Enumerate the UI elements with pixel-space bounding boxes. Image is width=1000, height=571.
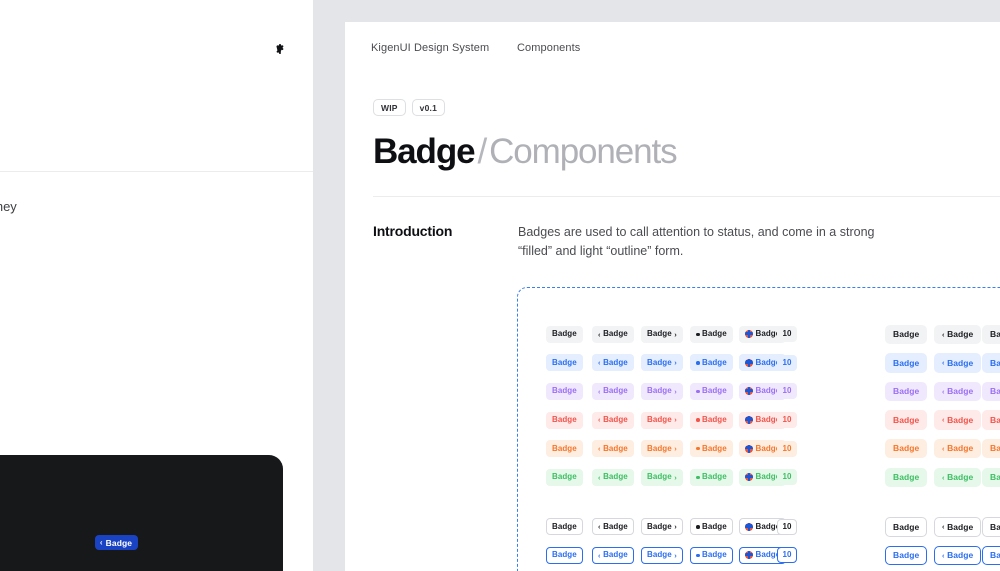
grid-cell: Badge›: [641, 354, 690, 371]
badge-count: 10: [783, 473, 792, 481]
chevron-left-icon: ‹: [942, 445, 945, 453]
chevron-left-icon: ‹: [598, 523, 601, 531]
preview-badge[interactable]: ‹ Badge: [95, 535, 138, 550]
documentation-panel: KigenUI Design System Components WIP v0.…: [345, 22, 1000, 571]
grid-cell: 10: [777, 326, 839, 342]
chevron-left-icon: ‹: [598, 552, 601, 560]
badge-label: Badge: [647, 416, 672, 424]
badge-label: Badge: [647, 551, 672, 559]
chevron-left-icon: ‹: [942, 388, 945, 396]
badge-purple-dot[interactable]: Badge: [690, 383, 733, 400]
grid-cell: Badge: [546, 547, 592, 564]
badge-label: Badge: [647, 445, 672, 453]
badge-row-red: Badge‹BadgeBadge›BadgeBadge10Badge‹Badge…: [546, 406, 1000, 435]
grid-cell: 10: [777, 412, 839, 428]
badge-label: Badge: [702, 387, 727, 395]
avatar: [745, 416, 753, 424]
grid-cell: Badge: [739, 354, 777, 371]
preview-badge-label: Badge: [106, 538, 132, 548]
badge-label: Badge: [552, 387, 577, 395]
badge-red-text[interactable]: Badge: [885, 410, 927, 430]
badge-purple-text[interactable]: Badge: [546, 383, 583, 400]
grid-cell: 10: [777, 519, 839, 535]
badge-purple-chevron-left[interactable]: ‹Badge: [934, 382, 981, 402]
badge-label: Badge: [990, 416, 1000, 425]
badge-label: Badge: [990, 473, 1000, 482]
badge-orange-text[interactable]: Badge: [885, 439, 927, 459]
badge-row-gray: Badge‹BadgeBadge›BadgeBadge10Badge‹Badge…: [546, 513, 1000, 542]
grid-cell: Badge: [546, 469, 592, 486]
badge-label: Badge: [990, 387, 1000, 396]
badge-count: 10: [783, 445, 792, 453]
badge-blue-count[interactable]: 10: [777, 547, 797, 563]
badge-gray-text[interactable]: Badge: [885, 325, 927, 345]
left-panel-toolbar: [0, 0, 313, 172]
grid-cell: ‹Badge: [934, 325, 982, 345]
grid-cell: ‹Badge: [592, 326, 641, 343]
chevron-left-icon: ‹: [598, 445, 601, 453]
badge-row-blue: Badge‹BadgeBadge›BadgeBadge10Badge‹Badge…: [546, 541, 1000, 570]
grid-cell: Badge›: [982, 546, 1000, 566]
breadcrumb: Components: [489, 132, 676, 171]
badge-blue-chevron-right[interactable]: Badge›: [982, 546, 1000, 566]
badge-label: Badge: [702, 551, 727, 559]
grid-cell: Badge›: [982, 468, 1000, 488]
grid-cell: Badge: [690, 469, 739, 486]
badge-gray-chevron-right[interactable]: Badge›: [982, 517, 1000, 537]
badge-label: Badge: [552, 523, 577, 531]
badge-gray-chevron-right[interactable]: Badge›: [982, 325, 1000, 345]
badge-gray-chevron-left[interactable]: ‹Badge: [934, 517, 981, 537]
badge-label: Badge: [947, 416, 973, 425]
grid-cell: ‹Badge: [934, 468, 982, 488]
badge-purple-count[interactable]: 10: [777, 383, 797, 399]
badge-label: Badge: [947, 444, 973, 453]
badge-label: Badge: [990, 444, 1000, 453]
badge-label: Badge: [947, 473, 973, 482]
badge-label: Badge: [603, 359, 628, 367]
badge-green-dot[interactable]: Badge: [690, 469, 733, 486]
badge-label: Badge: [552, 359, 577, 367]
badge-label: Badge: [647, 330, 672, 338]
top-nav: KigenUI Design System Components: [345, 22, 1000, 77]
badge-blue-chevron-right[interactable]: Badge›: [641, 547, 683, 564]
badge-blue-text[interactable]: Badge: [885, 353, 927, 373]
badge-label: Badge: [893, 330, 919, 339]
badge-label: Badge: [647, 387, 672, 395]
badge-count: 10: [783, 359, 792, 367]
grid-cell: Badge›: [982, 353, 1000, 373]
badge-label: Badge: [603, 551, 628, 559]
badge-blue-dot[interactable]: Badge: [690, 547, 733, 564]
chevron-right-icon: ›: [674, 445, 677, 453]
avatar: [745, 330, 753, 338]
section-label-introduction: Introduction: [373, 223, 518, 261]
badge-gray-dot[interactable]: Badge: [690, 518, 733, 535]
badge-label: Badge: [947, 359, 973, 368]
chevron-left-icon: ‹: [598, 416, 601, 424]
badge-green-text[interactable]: Badge: [885, 468, 927, 488]
grid-cell: Badge: [739, 469, 777, 486]
badge-label: Badge: [702, 523, 727, 531]
grid-cell: Badge: [885, 517, 934, 537]
badge-purple-chevron-right[interactable]: Badge›: [641, 383, 683, 400]
badge-purple-chevron-right[interactable]: Badge›: [982, 382, 1000, 402]
badge-label: Badge: [947, 387, 973, 396]
grid-cell: Badge›: [982, 410, 1000, 430]
badge-label: Badge: [893, 387, 919, 396]
clipped-line: low.: [0, 235, 313, 254]
grid-cell: Badge: [885, 325, 934, 345]
grid-cell: ‹Badge: [934, 410, 982, 430]
status-dot-icon: [696, 554, 700, 558]
page-header: WIP v0.1 Badge/Components: [345, 99, 1000, 197]
status-dot-icon: [696, 390, 700, 394]
grid-cell: Badge: [546, 412, 592, 429]
badge-count: 10: [783, 523, 792, 531]
badge-green-chevron-left[interactable]: ‹Badge: [592, 469, 634, 486]
badge-blue-text[interactable]: Badge: [546, 547, 583, 564]
badge-row-blue: Badge‹BadgeBadge›BadgeBadge10Badge‹Badge…: [546, 349, 1000, 378]
examples-canvas-wrap: Badge‹BadgeBadge›BadgeBadge10Badge‹Badge…: [345, 287, 1000, 571]
introduction-copy: Badges are used to call attention to sta…: [518, 223, 886, 261]
chevron-left-icon: ‹: [942, 552, 945, 560]
grid-cell: Badge: [885, 468, 934, 488]
badge-label: Badge: [893, 551, 919, 560]
badge-label: Badge: [552, 551, 577, 559]
status-dot-icon: [696, 418, 700, 422]
grid-cell: Badge: [885, 410, 934, 430]
avatar: [745, 551, 753, 559]
grid-cell: ‹Badge: [934, 439, 982, 459]
nav-brand[interactable]: KigenUI Design System: [371, 42, 489, 54]
grid-cell: Badge›: [641, 383, 690, 400]
badge-count: 10: [783, 551, 792, 559]
badge-row-orange: Badge‹BadgeBadge›BadgeBadge10Badge‹Badge…: [546, 434, 1000, 463]
grid-cell: ‹Badge: [592, 412, 641, 429]
grid-cell: Badge: [885, 353, 934, 373]
badge-label: Badge: [893, 444, 919, 453]
grid-cell: 10: [777, 383, 839, 399]
chevron-left-icon: ‹: [942, 359, 945, 367]
badge-blue-text[interactable]: Badge: [885, 546, 927, 566]
badge-green-text[interactable]: Badge: [546, 469, 583, 486]
badge-showcase-canvas: Badge‹BadgeBadge›BadgeBadge10Badge‹Badge…: [517, 287, 1000, 571]
badge-label: Badge: [893, 473, 919, 482]
badge-label: Badge: [552, 416, 577, 424]
grid-cell: Badge: [739, 440, 777, 457]
chevron-left-icon: ‹: [100, 538, 103, 547]
badge-orange-text[interactable]: Badge: [546, 440, 583, 457]
page-title-main: Badge: [373, 132, 474, 171]
badge-gray-text[interactable]: Badge: [885, 517, 927, 537]
badge-label: Badge: [702, 473, 727, 481]
chevron-right-icon: ›: [674, 552, 677, 560]
badge-label: Badge: [647, 473, 672, 481]
badge-orange-chevron-left[interactable]: ‹Badge: [592, 440, 634, 457]
badge-label: Badge: [702, 416, 727, 424]
grid-cell: Badge: [690, 412, 739, 429]
clipped-line: ntion to: [0, 217, 313, 236]
badge-gray-chevron-left[interactable]: ‹Badge: [934, 325, 981, 345]
badge-orange-chevron-right[interactable]: Badge›: [641, 440, 683, 457]
chevron-left-icon: ‹: [942, 523, 945, 531]
grid-cell: Badge›: [982, 382, 1000, 402]
badge-gray-count[interactable]: 10: [777, 519, 797, 535]
badge-label: Badge: [647, 523, 672, 531]
badge-purple-chevron-left[interactable]: ‹Badge: [592, 383, 634, 400]
grid-cell: Badge›: [641, 518, 690, 535]
chevron-left-icon: ‹: [942, 416, 945, 424]
badge-label: Badge: [990, 551, 1000, 560]
badge-blue-dot[interactable]: Badge: [690, 354, 733, 371]
badge-section-outline: Badge‹BadgeBadge›BadgeBadge10Badge‹Badge…: [518, 513, 1000, 571]
chevron-left-icon: ‹: [598, 388, 601, 396]
badge-row-green: Badge‹BadgeBadge›BadgeBadge10Badge‹Badge…: [546, 463, 1000, 492]
chevron-left-icon: ‹: [942, 474, 945, 482]
header-divider: [373, 196, 1000, 197]
badge-label: Badge: [552, 473, 577, 481]
badge-gray-count[interactable]: 10: [777, 326, 797, 342]
grid-cell: Badge: [739, 518, 777, 535]
grid-cell: ‹Badge: [934, 517, 982, 537]
badge-label: Badge: [947, 523, 973, 532]
grid-cell: Badge: [739, 412, 777, 429]
grid-cell: Badge: [690, 547, 739, 564]
badge-gray-chevron-right[interactable]: Badge›: [641, 518, 683, 535]
status-dot-icon: [696, 333, 700, 337]
badge-blue-text[interactable]: Badge: [546, 354, 583, 371]
badge-blue-chevron-left[interactable]: ‹Badge: [592, 547, 634, 564]
status-dot-icon: [696, 361, 700, 365]
badge-label: Badge: [893, 416, 919, 425]
badge-green-chevron-left[interactable]: ‹Badge: [934, 468, 981, 488]
grid-cell: ‹Badge: [592, 383, 641, 400]
badge-label: Badge: [603, 416, 628, 424]
badge-blue-chevron-left[interactable]: ‹Badge: [934, 546, 981, 566]
avatar: [745, 523, 753, 531]
grid-cell: Badge›: [641, 326, 690, 343]
badge-label: Badge: [893, 359, 919, 368]
grid-cell: 10: [777, 441, 839, 457]
badge-gray-dot[interactable]: Badge: [690, 326, 733, 343]
grid-cell: Badge: [690, 354, 739, 371]
badge-blue-chevron-right[interactable]: Badge›: [641, 354, 683, 371]
badge-orange-dot[interactable]: Badge: [690, 440, 733, 457]
badge-red-dot[interactable]: Badge: [690, 412, 733, 429]
grid-cell: ‹Badge: [592, 469, 641, 486]
status-badge-wip[interactable]: WIP: [373, 99, 406, 116]
grid-cell: ‹Badge: [592, 354, 641, 371]
badge-label: Badge: [702, 330, 727, 338]
grid-cell: Badge: [690, 326, 739, 343]
grid-cell: Badge: [739, 547, 777, 564]
grid-cell: Badge: [546, 383, 592, 400]
grid-cell: ‹Badge: [592, 547, 641, 564]
avatar: [745, 387, 753, 395]
status-dot-icon: [696, 447, 700, 451]
badge-gray-chevron-left[interactable]: ‹Badge: [592, 326, 634, 343]
avatar: [745, 473, 753, 481]
badge-red-count[interactable]: 10: [777, 412, 797, 428]
badge-count: 10: [783, 416, 792, 424]
badge-label: Badge: [702, 445, 727, 453]
badge-red-chevron-right[interactable]: Badge›: [641, 412, 683, 429]
chevron-left-icon: ‹: [598, 331, 601, 339]
badge-count: 10: [783, 387, 792, 395]
badge-label: Badge: [702, 359, 727, 367]
chevron-left-icon: ‹: [942, 331, 945, 339]
badge-red-chevron-left[interactable]: ‹Badge: [592, 412, 634, 429]
badge-green-count[interactable]: 10: [777, 469, 797, 485]
badge-label: Badge: [603, 445, 628, 453]
badge-gray-chevron-right[interactable]: Badge›: [641, 326, 683, 343]
badge-label: Badge: [647, 359, 672, 367]
chevron-right-icon: ›: [674, 416, 677, 424]
chevron-left-icon: ‹: [598, 359, 601, 367]
grid-cell: 10: [777, 355, 839, 371]
badge-blue-chevron-right[interactable]: Badge›: [982, 353, 1000, 373]
grid-cell: Badge: [690, 383, 739, 400]
avatar: [745, 445, 753, 453]
badge-red-chevron-right[interactable]: Badge›: [982, 410, 1000, 430]
introduction-section: Introduction Badges are used to call att…: [345, 197, 1000, 261]
grid-cell: Badge: [885, 439, 934, 459]
badge-red-text[interactable]: Badge: [546, 412, 583, 429]
grid-cell: Badge›: [641, 469, 690, 486]
avatar: [745, 359, 753, 367]
badge-gray-text[interactable]: Badge: [546, 326, 583, 343]
tag-row: WIP v0.1: [373, 99, 1000, 116]
chevron-right-icon: ›: [674, 359, 677, 367]
screen: page. They ntion to low. ‹ Badge s, and …: [0, 0, 1000, 571]
badge-green-chevron-right[interactable]: Badge›: [641, 469, 683, 486]
grid-cell: Badge›: [982, 517, 1000, 537]
chevron-right-icon: ›: [674, 523, 677, 531]
badge-label: Badge: [990, 330, 1000, 339]
left-panel: page. They ntion to low. ‹ Badge s, and …: [0, 0, 313, 571]
badge-orange-chevron-right[interactable]: Badge›: [982, 439, 1000, 459]
grid-cell: Badge: [546, 326, 592, 343]
grid-cell: Badge: [885, 546, 934, 566]
grid-cell: Badge›: [641, 440, 690, 457]
grid-cell: ‹Badge: [934, 546, 982, 566]
grid-cell: 10: [777, 547, 839, 563]
title-separator: /: [474, 132, 489, 171]
nav-link-components[interactable]: Components: [517, 42, 580, 54]
badge-label: Badge: [893, 523, 919, 532]
badge-purple-text[interactable]: Badge: [885, 382, 927, 402]
grid-cell: Badge: [546, 354, 592, 371]
badge-label: Badge: [603, 523, 628, 531]
chevron-left-icon: ‹: [598, 474, 601, 482]
badge-section-filled: Badge‹BadgeBadge›BadgeBadge10Badge‹Badge…: [518, 320, 1000, 492]
chevron-right-icon: ›: [674, 388, 677, 396]
grid-cell: Badge: [885, 382, 934, 402]
chevron-right-icon: ›: [674, 474, 677, 482]
grid-cell: ‹Badge: [592, 440, 641, 457]
badge-label: Badge: [552, 330, 577, 338]
badge-blue-chevron-left[interactable]: ‹Badge: [592, 354, 634, 371]
badge-green-chevron-right[interactable]: Badge›: [982, 468, 1000, 488]
badge-label: Badge: [990, 359, 1000, 368]
dark-preview-card: ‹ Badge: [0, 455, 283, 571]
grid-cell: Badge: [739, 326, 777, 343]
badge-orange-chevron-left[interactable]: ‹Badge: [934, 439, 981, 459]
badge-label: Badge: [947, 330, 973, 339]
status-dot-icon: [696, 476, 700, 480]
grid-cell: Badge›: [982, 325, 1000, 345]
badge-label: Badge: [552, 445, 577, 453]
grid-cell: Badge: [739, 383, 777, 400]
status-badge-version[interactable]: v0.1: [412, 99, 445, 116]
grid-cell: Badge: [546, 518, 592, 535]
badge-blue-count[interactable]: 10: [777, 355, 797, 371]
clipped-line: page. They: [0, 198, 313, 217]
grid-cell: Badge›: [641, 412, 690, 429]
grid-cell: Badge: [690, 518, 739, 535]
grid-cell: ‹Badge: [934, 353, 982, 373]
badge-label: Badge: [603, 387, 628, 395]
page-title: Badge/Components: [373, 132, 1000, 172]
gear-icon[interactable]: [272, 41, 288, 57]
grid-cell: ‹Badge: [592, 518, 641, 535]
badge-row-gray: Badge‹BadgeBadge›BadgeBadge10Badge‹Badge…: [546, 320, 1000, 349]
badge-gray-chevron-left[interactable]: ‹Badge: [592, 518, 634, 535]
grid-cell: ‹Badge: [934, 382, 982, 402]
badge-red-chevron-left[interactable]: ‹Badge: [934, 410, 981, 430]
badge-count: 10: [783, 330, 792, 338]
grid-cell: Badge›: [641, 547, 690, 564]
badge-label: Badge: [603, 473, 628, 481]
badge-orange-count[interactable]: 10: [777, 441, 797, 457]
grid-cell: Badge: [690, 440, 739, 457]
badge-row-purple: Badge‹BadgeBadge›BadgeBadge10Badge‹Badge…: [546, 377, 1000, 406]
left-clipped-paragraph-top: page. They ntion to low.: [0, 198, 313, 254]
status-dot-icon: [696, 525, 700, 529]
grid-cell: Badge›: [982, 439, 1000, 459]
grid-cell: 10: [777, 469, 839, 485]
badge-blue-chevron-left[interactable]: ‹Badge: [934, 353, 981, 373]
chevron-right-icon: ›: [674, 331, 677, 339]
grid-cell: Badge: [546, 440, 592, 457]
badge-label: Badge: [990, 523, 1000, 532]
badge-label: Badge: [947, 551, 973, 560]
badge-gray-text[interactable]: Badge: [546, 518, 583, 535]
badge-label: Badge: [603, 330, 628, 338]
